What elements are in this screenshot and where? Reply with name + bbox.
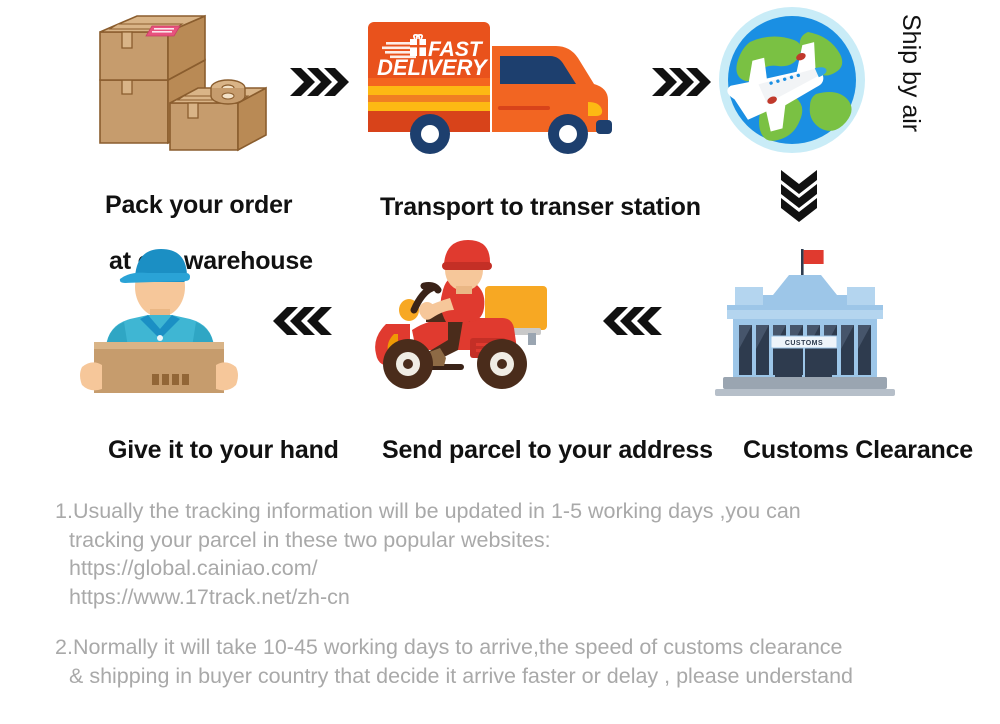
step-label-courier: Send parcel to your address: [355, 408, 713, 492]
scooter-courier-icon: [352, 238, 577, 398]
note-1-line-4[interactable]: https://www.17track.net/zh-cn: [55, 583, 975, 612]
step-label-handover-line1: Give it to your hand: [108, 436, 339, 464]
shipping-process-infographic: Pack your order at our warehouse: [0, 0, 1000, 724]
truck-brand-line2: DELIVERY: [377, 55, 489, 80]
step-label-customs: Customs Clearance: [716, 408, 973, 492]
arrow-courier-to-hand-icon: [272, 303, 334, 339]
note-1-line-2: tracking your parcel in these two popula…: [55, 526, 975, 555]
arrow-air-to-customs-icon: [777, 168, 821, 224]
arrow-pack-to-transport-icon: [288, 64, 350, 100]
note-1-line-3[interactable]: https://global.cainiao.com/: [55, 554, 975, 583]
step-label-courier-line1: Send parcel to your address: [382, 436, 713, 464]
note-1-line-1: 1.Usually the tracking information will …: [55, 497, 975, 526]
cardboard-boxes-icon: [70, 8, 290, 158]
step-label-customs-line1: Customs Clearance: [743, 436, 973, 464]
step-label-ship-by-air: Ship by air: [896, 14, 925, 132]
note-2-line-2: & shipping in buyer country that decide …: [55, 662, 975, 691]
shipping-notes: 1.Usually the tracking information will …: [55, 497, 975, 713]
step-label-pack-line1: Pack your order: [105, 191, 292, 219]
step-label-transport: Transport to transer station: [353, 165, 701, 249]
note-2-line-1: 2.Normally it will take 10-45 working da…: [55, 633, 975, 662]
note-2: 2.Normally it will take 10-45 working da…: [55, 633, 975, 690]
globe-airplane-icon: [712, 2, 872, 162]
note-1: 1.Usually the tracking information will …: [55, 497, 975, 611]
delivery-truck-icon: FAST DELIVERY: [360, 10, 640, 160]
customs-sign-text: CUSTOMS: [785, 340, 823, 347]
step-label-transport-line1: Transport to transer station: [380, 193, 701, 221]
delivery-man-icon: [72, 243, 247, 398]
arrow-transport-to-air-icon: [650, 64, 712, 100]
arrow-customs-to-courier-icon: [602, 303, 664, 339]
step-label-handover: Give it to your hand: [81, 408, 339, 492]
customs-building-icon: CUSTOMS: [705, 243, 905, 398]
